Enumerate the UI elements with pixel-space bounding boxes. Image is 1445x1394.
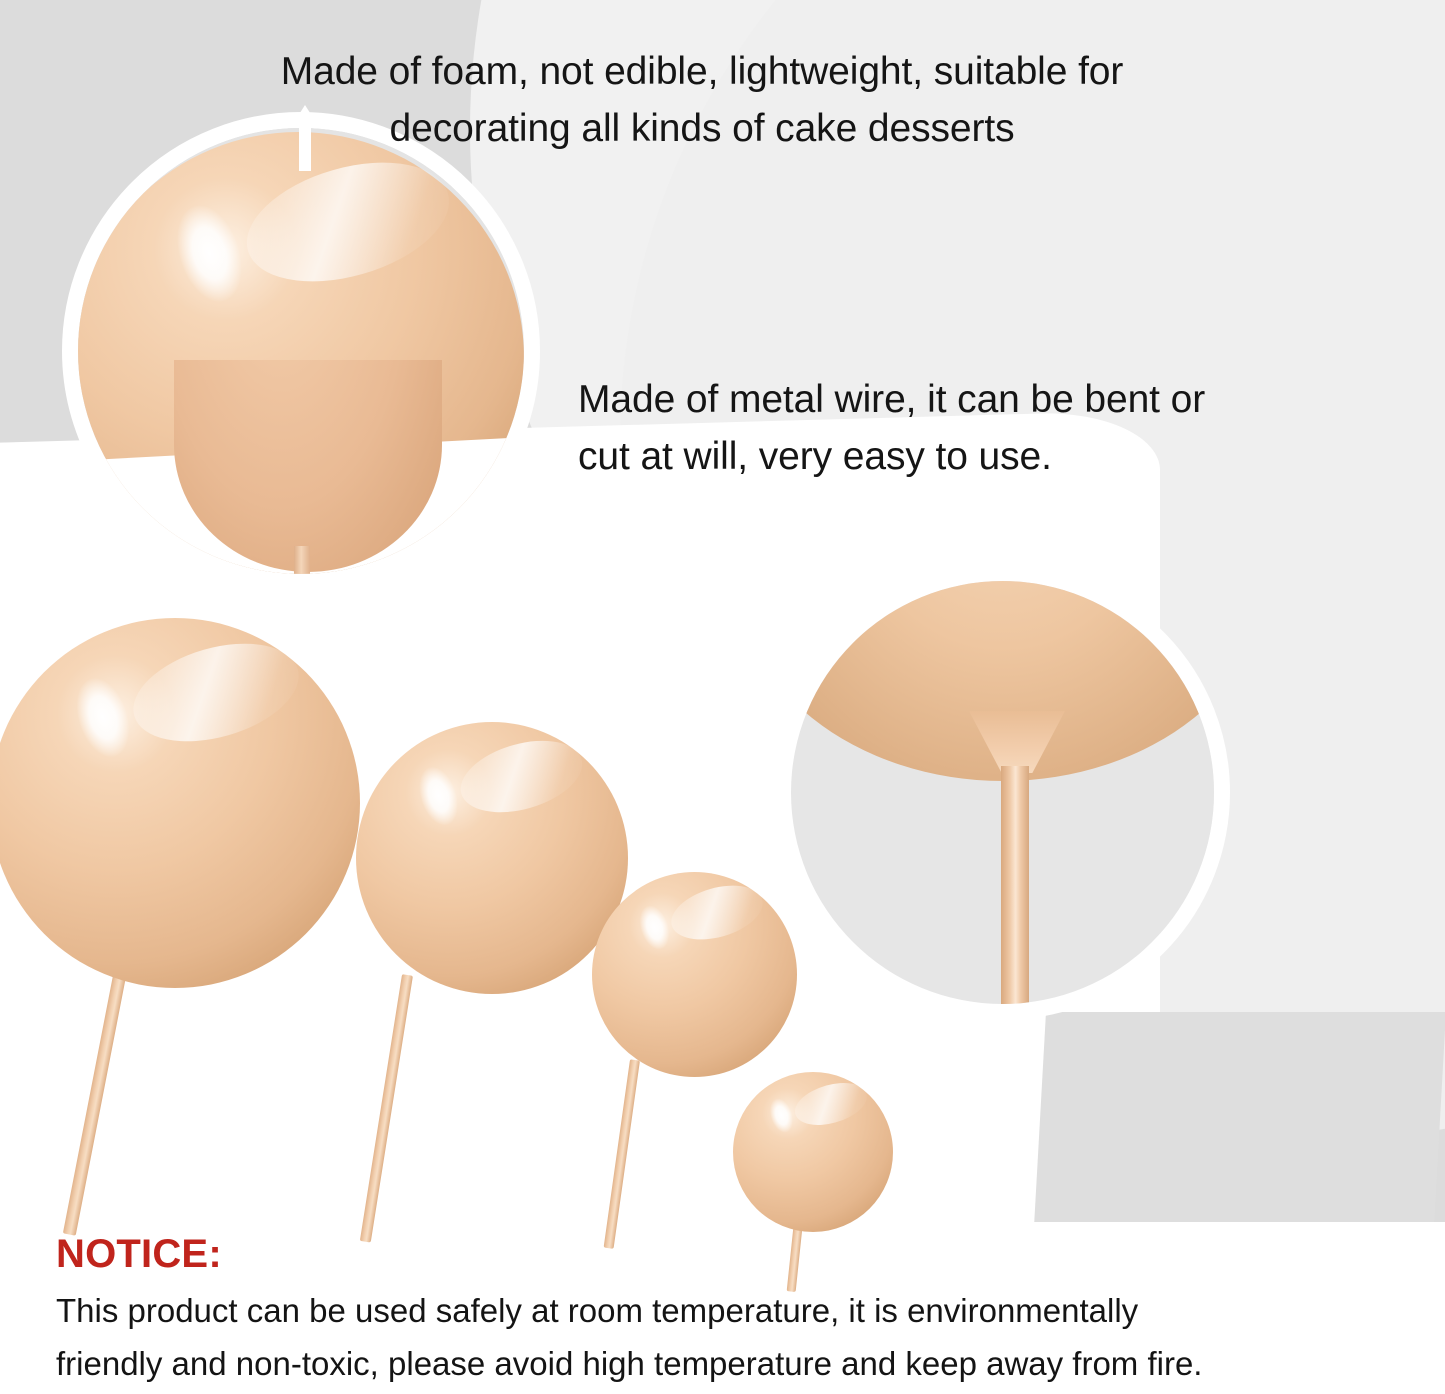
cake-topper-ball-large [356,722,628,994]
zoomed-stick-stub [294,546,310,590]
cake-topper-ball-small [733,1072,893,1232]
callout-arrow-wire-icon [978,500,1008,566]
product-infographic: Made of foam, not edible, lightweight, s… [0,0,1445,1394]
notice-title: NOTICE: [56,1233,1426,1275]
zoomed-metal-wire-stick [1001,766,1029,1020]
magnifier-content-foam [78,128,524,574]
caption-foam-material: Made of foam, not edible, lightweight, s… [112,44,1292,158]
ball-gloss-highlight [233,142,463,304]
background-gray-wedge [1034,1012,1445,1227]
notice-block: NOTICE: This product can be used safely … [56,1233,1426,1391]
magnifier-content-wire [791,581,1214,1004]
caption-metal-wire: Made of metal wire, it can be bent or cu… [578,372,1438,486]
notice-body: This product can be used safely at room … [56,1284,1426,1391]
magnifier-circle-metal-wire [775,565,1230,1020]
cake-topper-ball-extra-large [0,618,360,988]
cake-topper-ball-medium [592,872,797,1077]
magnifier-circle-foam-ball [62,112,540,590]
